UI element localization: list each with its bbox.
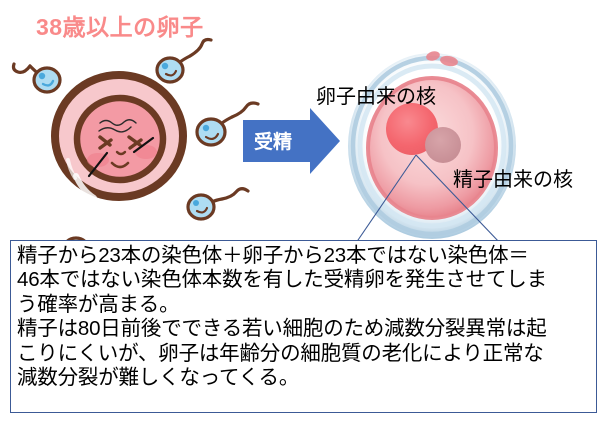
sperm-eye (203, 125, 209, 131)
aged-oocyte-group (55, 75, 183, 198)
oocyte-cheek-right (135, 145, 157, 159)
label-sperm-derived-nucleus: 精子由来の核 (453, 163, 573, 192)
sperm-cell (14, 64, 61, 92)
label-egg-derived-nucleus: 卵子由来の核 (316, 80, 436, 109)
sperm-tail (14, 64, 31, 72)
description-line: 精子から23本の染色体＋卵子から23本ではない染色体＝ (17, 244, 590, 268)
sperm-head (34, 68, 60, 92)
sperm-tail (232, 103, 258, 117)
sperm-cell (157, 40, 211, 83)
sperm-cell (188, 189, 248, 219)
fertilization-arrow-label: 受精 (254, 127, 292, 154)
sperm-head (157, 58, 183, 82)
sperm-eye (193, 200, 199, 206)
sperm-head (197, 119, 225, 145)
sperm-neck (180, 56, 190, 62)
sperm-neck (222, 117, 232, 123)
figure-canvas: 38歳以上の卵子 受精 卵子由来の核 精子由来の核 精子から23本の染色体＋卵子… (0, 0, 607, 423)
sperm-head (188, 195, 214, 219)
sperm-eye (162, 63, 168, 69)
description-box: 精子から23本の染色体＋卵子から23本ではない染色体＝ 46本ではない染色体本数… (10, 240, 597, 413)
description-line: 減数分裂が難しくなってくる。 (17, 366, 590, 390)
description-line: 精子は80日前後でできる若い細胞のため減数分裂異常は起 (17, 317, 590, 341)
fertilized-egg-group (348, 50, 516, 239)
page-title: 38歳以上の卵子 (36, 8, 204, 42)
description-line: こりにくいが、卵子は年齢分の細胞質の老化により正常な (17, 342, 590, 366)
sperm-derived-nucleus (425, 127, 461, 163)
sperm-tail (222, 189, 248, 199)
description-line: う確率が高まる。 (17, 293, 590, 317)
description-line: 46本ではない染色体本数を有した受精卵を発生させてしま (17, 268, 590, 292)
sperm-eye (39, 73, 45, 79)
